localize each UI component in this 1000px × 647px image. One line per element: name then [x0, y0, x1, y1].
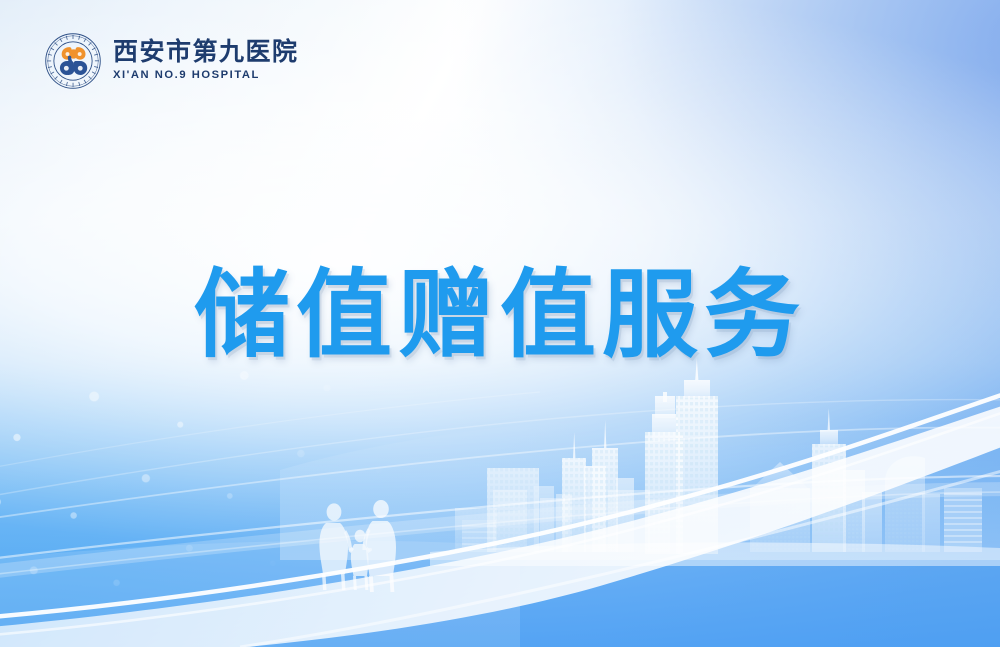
bottom-left-veil: [0, 541, 520, 647]
hospital-name-cn: 西安市第九医院: [113, 40, 299, 65]
city-skyline-silhouette: [430, 358, 1000, 566]
twin-towers: [562, 420, 634, 552]
hospital-name-en: XI'AN NO.9 HOSPITAL: [113, 70, 299, 81]
slide-title: 储值赠值服务: [0, 264, 1000, 368]
ribbed-low-block: [462, 520, 496, 552]
ribbed-tower: [944, 488, 982, 552]
brand-lockup: 西安市第九医院 XI'AN NO.9 HOSPITAL: [44, 32, 299, 90]
brand-text-block: 西安市第九医院 XI'AN NO.9 HOSPITAL: [113, 40, 299, 81]
pyramid-top-building: [750, 462, 810, 552]
central-tower: [645, 358, 718, 554]
curved-crown-building: [885, 456, 940, 552]
light-swoosh-curves: [0, 388, 1000, 647]
hospital-seal-icon: [44, 32, 102, 90]
family-silhouette: [319, 500, 396, 592]
title-slide: 西安市第九医院 XI'AN NO.9 HOSPITAL 储值赠值服务: [0, 0, 1000, 647]
right-tower: [812, 408, 882, 552]
skyline-haze: [280, 415, 1000, 560]
